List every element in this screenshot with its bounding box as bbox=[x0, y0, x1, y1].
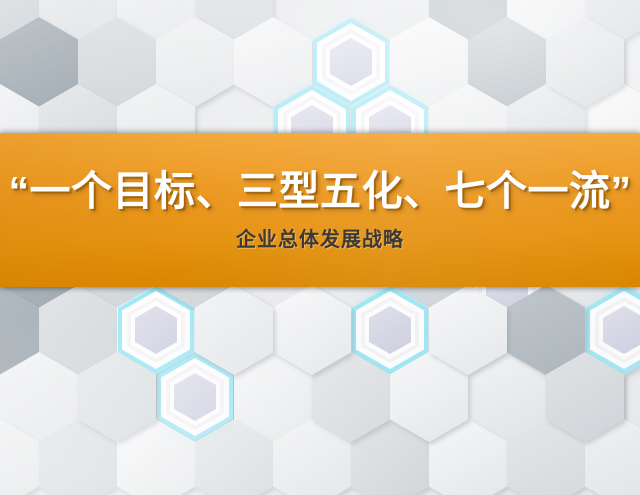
title-banner: “一个目标、三型五化、七个一流” 企业总体发展战略 bbox=[0, 133, 640, 287]
page-title: “一个目标、三型五化、七个一流” bbox=[9, 171, 632, 212]
slide-canvas: “一个目标、三型五化、七个一流” 企业总体发展战略 bbox=[0, 0, 640, 495]
page-subtitle: 企业总体发展战略 bbox=[236, 230, 404, 250]
title-banner-content: “一个目标、三型五化、七个一流” 企业总体发展战略 bbox=[0, 133, 640, 287]
